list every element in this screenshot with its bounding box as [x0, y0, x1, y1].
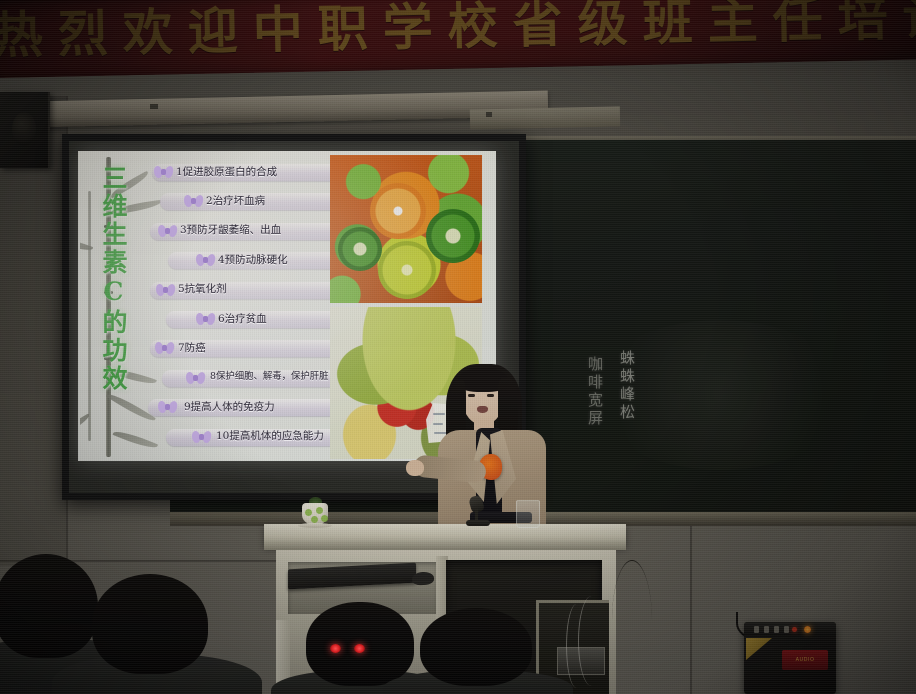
bowtie-icon [158, 401, 177, 413]
slide-bullet-row: 2治疗坏血病 [152, 186, 344, 215]
bowtie-icon [192, 431, 211, 443]
bowtie-icon [158, 225, 177, 237]
citrus-kiwi-fruit-photo [330, 155, 482, 303]
amplifier-control-panel [744, 622, 836, 636]
bowtie-icon [155, 342, 174, 354]
bowtie-icon [196, 254, 215, 266]
cable [612, 560, 652, 681]
bowtie-icon [196, 313, 215, 325]
classroom-photo-scene: 热烈欢迎中职学校省级班主任培训班 咖啡宽屏 蛛蛛峰松 [0, 0, 916, 694]
slide-bullet-text: 10提高机体的应急能力 [216, 430, 324, 442]
audience-head [92, 574, 208, 674]
soffit-mark [150, 104, 158, 109]
slide-bullet-row: 1促进胶原蛋白的合成 [152, 157, 344, 186]
slide-bullet-text: 6治疗贫血 [218, 313, 267, 325]
bowtie-icon [156, 284, 175, 296]
slide-bullet-row: 3预防牙龈萎缩、出血 [152, 216, 344, 245]
soffit-mark [486, 112, 492, 117]
pot-saucer [298, 523, 332, 528]
bowtie-icon [186, 372, 205, 384]
slide-bullet-text: 9提高人体的免疫力 [184, 401, 275, 413]
blackboard-chalk-text-column-1: 咖啡宽屏 [585, 356, 605, 428]
bowtie-icon [184, 195, 203, 207]
blackboard-chalk-text-column-2: 蛛蛛峰松 [617, 350, 637, 422]
microphone-base [466, 520, 490, 526]
slide-bullet-row: 10提高机体的应急能力 [152, 422, 344, 451]
slide-bullet-text: 1促进胶原蛋白的合成 [176, 166, 277, 178]
red-eye-flash-left [330, 644, 341, 653]
presenter-mouth [477, 406, 488, 413]
slide-title-vertical: 三维生素C的功效 [100, 165, 127, 393]
audience-head [420, 608, 532, 686]
amplifier-speaker: AUDIO [744, 622, 836, 694]
microphone[interactable] [466, 496, 492, 526]
wall-seam [690, 520, 692, 694]
slide-bullet-row: 8保护细胞、解毒，保护肝脏 [152, 363, 344, 392]
amplifier-power-led [804, 626, 811, 633]
ceiling-soffit-secondary [470, 106, 620, 129]
amplifier-brand-label: AUDIO [782, 650, 828, 670]
amplifier-corner-trim [746, 638, 772, 660]
slide-bullet-text: 2治疗坏血病 [206, 195, 265, 207]
amplifier-red-led [792, 627, 797, 632]
lectern-edge [264, 541, 626, 550]
red-eye-flash-right [354, 644, 365, 653]
slide-bullet-row: 7防癌 [152, 333, 344, 362]
slide-bullet-text: 7防癌 [178, 342, 206, 354]
slide-bullet-row: 6治疗贫血 [152, 304, 344, 333]
speaker-cone-icon [12, 112, 36, 146]
water-glass [516, 500, 540, 528]
cable [566, 604, 587, 688]
slide-bullet-list: 1促进胶原蛋白的合成 2治疗坏血病 3预防牙 [152, 157, 344, 459]
presenter-eye [487, 394, 494, 397]
slide-bullet-row: 5抗氧化剂 [152, 275, 344, 304]
audience-member [92, 574, 224, 694]
bowtie-icon [154, 166, 173, 178]
wall-mounted-speaker [0, 92, 50, 168]
polka-dot-plant-pot [300, 497, 330, 525]
slide-bullet-text: 4预防动脉硬化 [218, 254, 288, 266]
slide-bullet-row: 4预防动脉硬化 [152, 245, 344, 274]
audience-head [0, 554, 98, 658]
audience-member [420, 608, 544, 694]
slide-bullet-text: 5抗氧化剂 [178, 283, 227, 295]
presenter-eye [468, 394, 475, 397]
pot-body [302, 503, 328, 525]
slide-bullet-text: 3预防牙龈萎缩、出血 [180, 224, 281, 236]
slide-bullet-text: 8保护细胞、解毒，保护肝脏 [210, 371, 328, 383]
presenter-hand [406, 460, 424, 476]
slide-bullet-row: 9提高人体的免疫力 [152, 392, 344, 421]
